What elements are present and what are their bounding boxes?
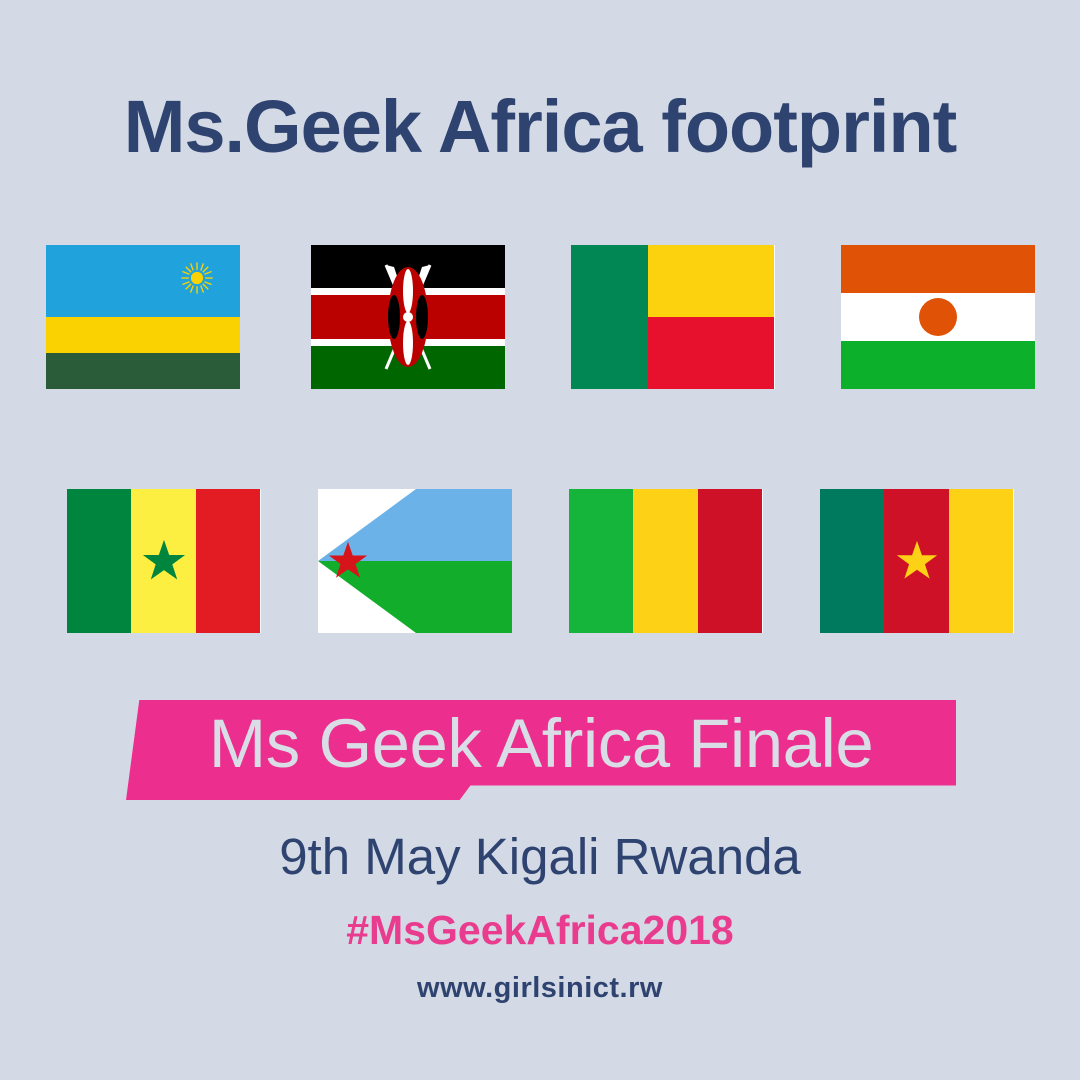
cameroon-yellow-band — [949, 489, 1014, 633]
flag-cell-cameroon — [815, 489, 1019, 633]
flag-mali-icon — [569, 489, 763, 633]
rwanda-yellow-band — [46, 317, 240, 353]
flag-benin-icon — [571, 245, 775, 389]
niger-sun-circle-icon — [919, 298, 957, 336]
finale-banner: Ms Geek Africa Finale — [126, 700, 956, 800]
event-hashtag: #MsGeekAfrica2018 — [0, 907, 1080, 954]
benin-yellow-band — [648, 245, 774, 317]
rwanda-green-band — [46, 353, 240, 389]
finale-banner-label: Ms Geek Africa Finale — [126, 700, 956, 787]
flag-row-1 — [0, 245, 1080, 389]
senegal-red-band — [196, 489, 261, 633]
benin-red-band — [648, 317, 774, 389]
flag-cell-kenya — [306, 245, 510, 389]
benin-green-band — [571, 245, 649, 389]
flag-cell-mali — [564, 489, 768, 633]
cameroon-star-icon — [896, 540, 938, 582]
kenya-shield-icon — [376, 257, 440, 377]
event-date-location: 9th May Kigali Rwanda — [0, 827, 1080, 886]
niger-orange-band — [841, 245, 1035, 293]
flag-cell-rwanda — [41, 245, 245, 389]
flag-cell-benin — [571, 245, 775, 389]
flag-senegal-icon — [67, 489, 261, 633]
page-title: Ms.Geek Africa footprint — [0, 84, 1080, 169]
website-url[interactable]: www.girlsinict.rw — [0, 972, 1080, 1005]
mali-green-band — [569, 489, 634, 633]
djibouti-star-icon — [328, 541, 368, 581]
flag-kenya-icon — [311, 245, 505, 389]
flag-cameroon-icon — [820, 489, 1014, 633]
flag-grid — [0, 245, 1080, 633]
flag-cell-djibouti — [313, 489, 517, 633]
niger-green-band — [841, 341, 1035, 389]
flag-niger-icon — [841, 245, 1035, 389]
senegal-green-band — [67, 489, 132, 633]
senegal-star-icon — [142, 539, 186, 583]
cameroon-green-band — [820, 489, 885, 633]
flag-row-2 — [0, 489, 1080, 633]
mali-red-band — [698, 489, 763, 633]
flag-cell-senegal — [62, 489, 266, 633]
mali-yellow-band — [633, 489, 698, 633]
flag-cell-niger — [836, 245, 1040, 389]
flag-rwanda-icon — [46, 245, 240, 389]
poster-canvas: Ms.Geek Africa footprint — [0, 0, 1080, 1080]
flag-djibouti-icon — [318, 489, 512, 633]
rwanda-sun-icon — [180, 261, 214, 295]
